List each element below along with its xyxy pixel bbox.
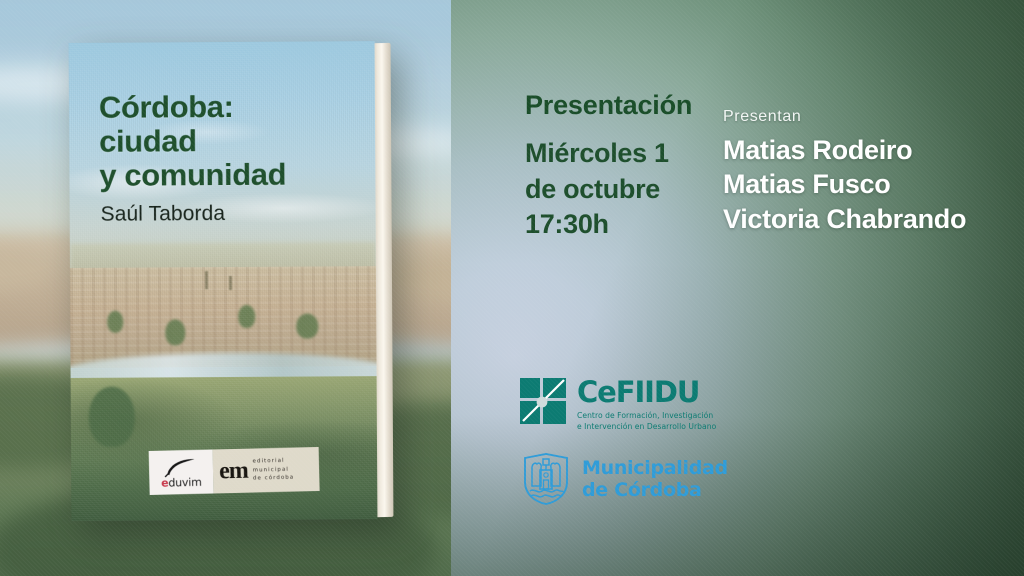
cover-em-tagline: editorial municipal de córdoba [253,457,295,483]
municipalidad-wordmark: Municipalidad de Córdoba [582,457,728,502]
speaker-name-1: Matias Rodeiro [723,133,966,167]
presentation-date: Miércoles 1 de octubre 17:30h [525,136,692,243]
municipalidad-line-2: de Córdoba [582,479,728,501]
cefiidu-tagline-line-2: e Intervención en Desarrollo Urbano [577,421,716,432]
cover-em-monogram: em [219,459,248,484]
cover-tree [89,387,135,447]
cover-eduvim-rest: duvim [168,476,202,490]
book-front-cover: Córdoba: ciudad y comunidad Saúl Taborda [69,41,378,521]
municipalidad-line-1: Municipalidad [582,457,728,479]
book-cover-publisher-logos: eduvim em editorial municipal de córdoba [149,447,320,495]
cefiidu-wordmark-block: CeFIIDU Centro de Formación, Investigaci… [577,377,716,432]
cover-church-spire [229,276,232,290]
cover-eduvim-logo: eduvim [149,449,214,494]
info-pane: Presentación Miércoles 1 de octubre 17:3… [451,0,1024,576]
background-photo-pane: Córdoba: ciudad y comunidad Saúl Taborda [0,0,451,576]
presentation-date-line-2: de octubre [525,172,692,208]
book-title: Córdoba: ciudad y comunidad [99,90,286,193]
cover-tree [238,305,255,328]
speakers-kicker: Presentan [723,108,966,126]
cefiidu-wordmark: CeFIIDU [577,378,716,407]
cover-em-tagline-line-3: de córdoba [253,474,294,483]
book-title-line-3: y comunidad [99,158,286,193]
cordoba-crest-icon [521,452,571,506]
presentation-time: 17:30h [525,207,692,243]
presentation-block: Presentación Miércoles 1 de octubre 17:3… [525,90,692,243]
cefiidu-tagline-line-1: Centro de Formación, Investigación [577,410,716,421]
cover-editorial-municipal-logo: em editorial municipal de córdoba [213,447,320,493]
book-author: Saúl Taborda [101,202,226,227]
cover-tree [107,310,123,332]
cefiidu-grid-icon [519,377,567,425]
speakers-block: Presentan Matias Rodeiro Matias Fusco Vi… [723,108,966,236]
presentation-date-line-1: Miércoles 1 [525,136,692,172]
cefiidu-logo: CeFIIDU Centro de Formación, Investigaci… [519,377,716,432]
cefiidu-tagline: Centro de Formación, Investigación e Int… [577,410,716,432]
poster-canvas: Córdoba: ciudad y comunidad Saúl Taborda [0,0,1024,576]
cover-church-spire [205,272,208,290]
cover-eduvim-wordmark: eduvim [161,476,202,490]
presentation-heading: Presentación [525,90,692,121]
book-mockup: Córdoba: ciudad y comunidad Saúl Taborda [69,41,392,521]
speaker-name-2: Matias Fusco [723,167,966,201]
cover-tree [165,320,185,346]
book-title-line-1: Córdoba: [99,90,286,125]
book-title-line-2: ciudad [99,124,286,159]
speaker-name-3: Victoria Chabrando [723,202,966,236]
municipalidad-logo: Municipalidad de Córdoba [521,452,728,506]
speakers-list: Matias Rodeiro Matias Fusco Victoria Cha… [723,133,966,236]
feather-icon [164,457,198,478]
